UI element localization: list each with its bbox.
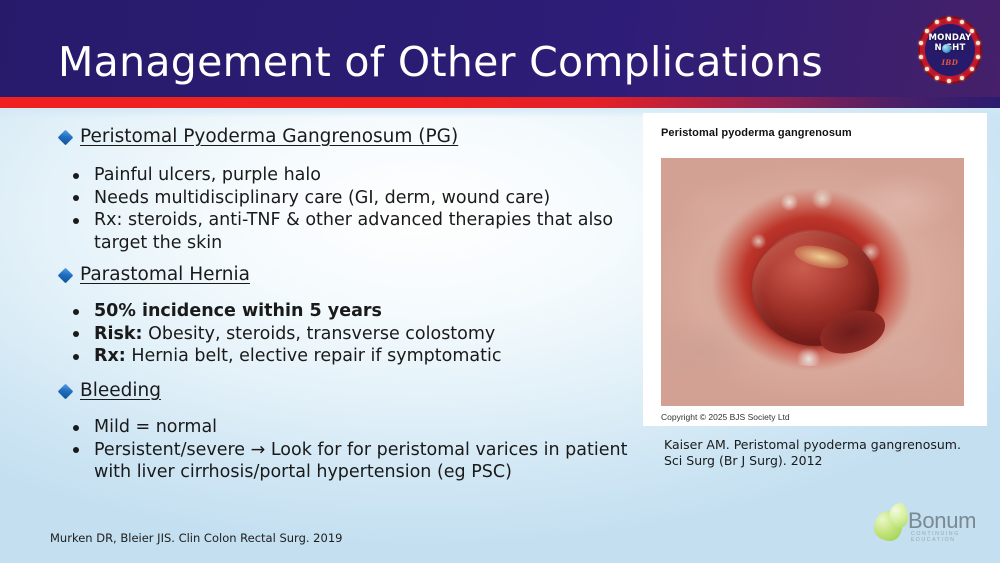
list-item: Rx: Hernia belt, elective repair if symp… [66,345,636,368]
logo-line-1: MONDAY [916,33,984,43]
list-item-text: Needs multidisciplinary care (GI, derm, … [94,188,550,208]
list-item: Needs multidisciplinary care (GI, derm, … [66,187,636,210]
section-heading-pyoderma: Peristomal Pyoderma Gangrenosum (PG) [60,126,458,147]
diamond-bullet-icon [58,268,74,284]
section-heading-hernia: Parastomal Hernia [60,264,250,285]
header-red-stripe [0,97,1000,108]
logo-bulb-icon [947,79,951,83]
leaf-shape-small [889,503,908,528]
section-heading-label: Parastomal Hernia [80,264,250,285]
logo-bulb-icon [935,76,939,80]
list-item-text: Persistent/severe → Look for for peristo… [94,440,627,483]
list-item: Rx: steroids, anti-TNF & other advanced … [66,209,636,254]
logo-bulb-icon [970,67,974,71]
bullet-list-hernia: 50% incidence within 5 years Risk: Obesi… [66,300,636,368]
section-heading-bleeding: Bleeding [60,380,161,401]
list-item-emphasis: 50% incidence within 5 years [94,301,382,321]
diamond-bullet-icon [58,130,74,146]
clinical-photo-peristomal-pyoderma [661,158,964,406]
list-item: 50% incidence within 5 years [66,300,636,323]
logo-bulb-icon [947,17,951,21]
section-heading-label: Peristomal Pyoderma Gangrenosum (PG) [80,126,458,147]
bullet-list-pyoderma: Painful ulcers, purple halo Needs multid… [66,164,636,254]
figure-card: Peristomal pyoderma gangrenosum Copyrigh… [643,113,987,426]
section-heading-label: Bleeding [80,380,161,401]
monday-night-ibd-logo: MONDAY N GHT IBD [916,14,984,86]
slide-canvas: Management of Other Complications MONDAY… [0,0,1000,563]
logo-bulb-icon [925,67,929,71]
logo-bulb-icon [960,20,964,24]
figure-caption: Peristomal pyoderma gangrenosum [661,127,852,139]
list-item: Painful ulcers, purple halo [66,164,636,187]
list-item-emphasis: Risk: [94,324,143,344]
logo-bulb-icon [960,76,964,80]
logo-ibd-label: IBD [916,58,984,67]
figure-citation: Kaiser AM. Peristomal pyoderma gangrenos… [664,437,979,469]
list-item-text: Mild = normal [94,417,217,437]
bonum-tagline: CONTINUING EDUCATION [911,531,992,543]
bonum-logo: Bonum CONTINUING EDUCATION [872,500,992,548]
figure-copyright: Copyright © 2025 BJS Society Ltd [661,412,790,422]
list-item-text: Hernia belt, elective repair if symptoma… [126,346,502,366]
list-item-emphasis: Rx: [94,346,126,366]
list-item: Risk: Obesity, steroids, transverse colo… [66,323,636,346]
list-item-text: Rx: steroids, anti-TNF & other advanced … [94,210,613,253]
logo-globe-icon [942,44,951,53]
bonum-leaf-icon [872,502,912,544]
bullet-list-bleeding: Mild = normal Persistent/severe → Look f… [66,416,654,484]
list-item: Persistent/severe → Look for for peristo… [66,439,654,484]
logo-bulb-icon [935,20,939,24]
list-item: Mild = normal [66,416,654,439]
list-item-text: Obesity, steroids, transverse colostomy [143,324,496,344]
list-item-text: Painful ulcers, purple halo [94,165,321,185]
slide-body: Peristomal Pyoderma Gangrenosum (PG) Pai… [0,118,640,518]
diamond-bullet-icon [58,384,74,400]
footer-citation: Murken DR, Bleier JIS. Clin Colon Rectal… [50,531,342,545]
page-title: Management of Other Complications [58,38,823,86]
